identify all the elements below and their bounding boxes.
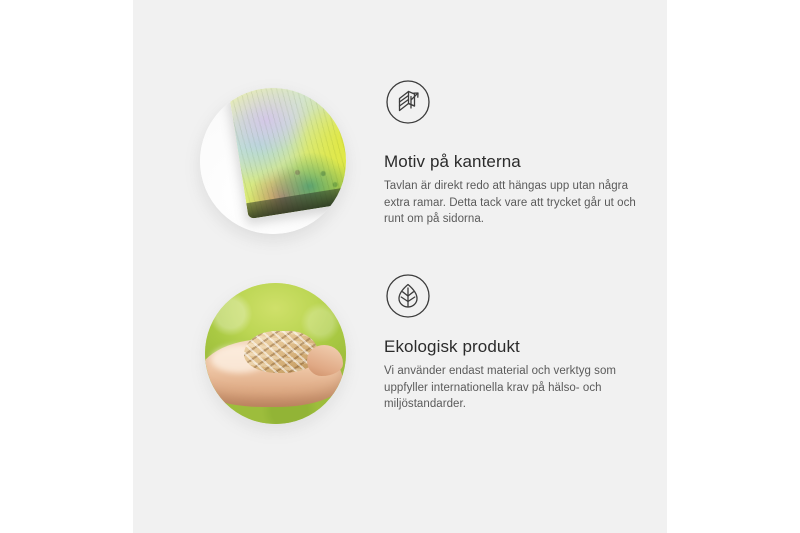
feature-body: Tavlan är direkt redo att hängas upp uta… bbox=[384, 178, 654, 228]
fingertips bbox=[307, 345, 344, 376]
product-feature-banner: Motiv på kanterna Tavlan är direkt redo … bbox=[0, 0, 800, 533]
canvas-wrapped-edges-icon bbox=[384, 78, 432, 126]
feature-title: Ekologisk produkt bbox=[384, 337, 654, 357]
feature-panel: Motiv på kanterna Tavlan är direkt redo … bbox=[133, 0, 667, 533]
feature-body: Vi använder endast material och verktyg … bbox=[384, 363, 654, 413]
canvas-print-thumbnail bbox=[200, 88, 346, 234]
eco-hands-woodchips-thumbnail bbox=[205, 283, 346, 424]
eco-photo bbox=[205, 283, 346, 424]
feature-copy-ekologisk-produkt: Ekologisk produkt Vi använder endast mat… bbox=[384, 337, 654, 413]
leaf-icon bbox=[384, 272, 432, 320]
feature-copy-motiv-pa-kanterna: Motiv på kanterna Tavlan är direkt redo … bbox=[384, 152, 654, 228]
feature-title: Motiv på kanterna bbox=[384, 152, 654, 172]
wood-chips bbox=[244, 331, 317, 373]
canvas-print-artwork bbox=[229, 88, 346, 220]
